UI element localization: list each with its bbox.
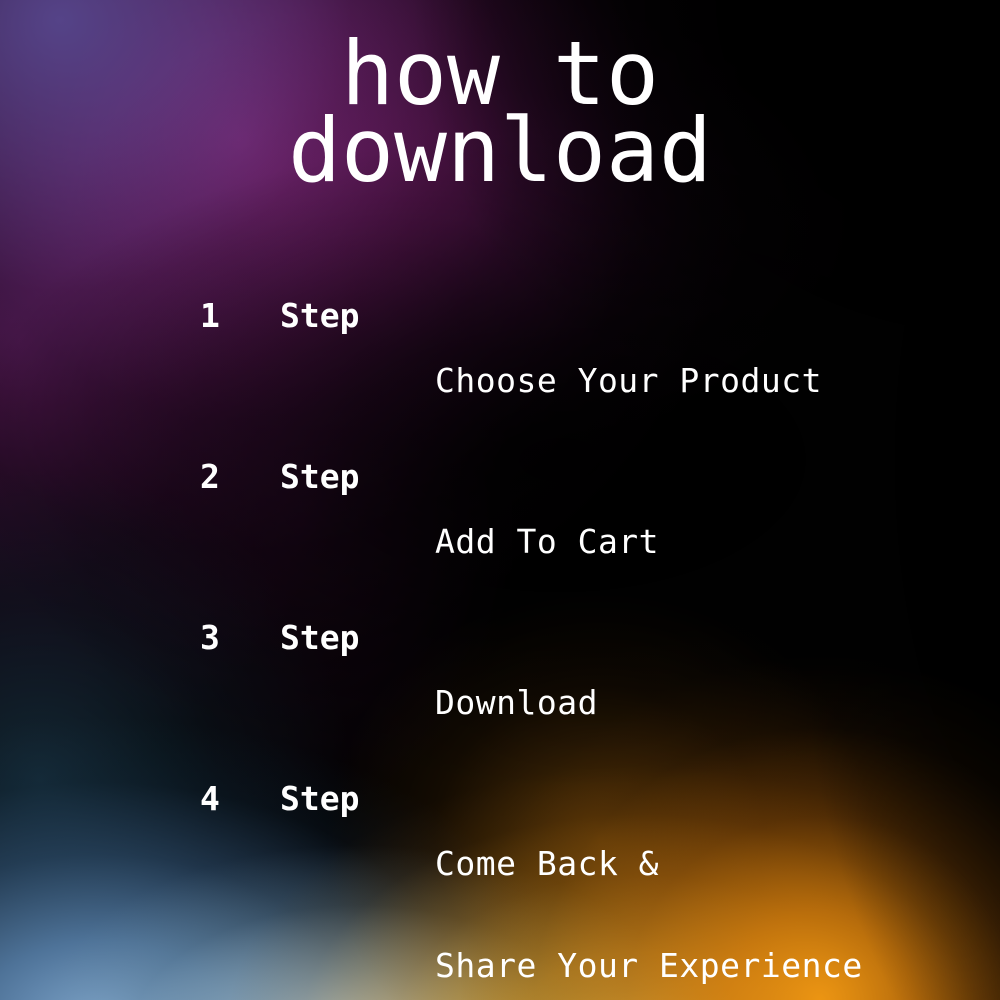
page-title: how to download [0,34,1000,192]
step-item-4-label: Step [280,779,435,819]
step-item-1-content: 1 Step Choose Your Product [200,296,822,466]
step-item-2-content: 2 Step Add To Cart [200,457,679,627]
step-item-2-number: 2 [200,457,280,497]
step-item-1: 1 Step Choose Your Product [0,296,1000,457]
step-item-3-label: Step [280,618,435,658]
step-item-4-description-line-2: Share Your Experience [435,949,863,983]
step-item-3-description: Download [435,618,679,788]
poster-canvas: how to download 1 Step Choose Your Produ… [0,0,1000,1000]
step-item-4-number: 4 [200,779,280,819]
step-item-3-description-line-1: Download [435,686,679,720]
step-item-4: 4 Step Come Back & Share Your Experience [0,779,1000,940]
step-item-2-description: Add To Cart [435,457,679,627]
step-item-2-description-line-1: Add To Cart [435,525,679,559]
poster-content: how to download 1 Step Choose Your Produ… [0,0,1000,1000]
page-title-line-2: download [0,111,1000,192]
step-item-4-description: Come Back & Share Your Experience [435,779,863,1000]
steps-list: 1 Step Choose Your Product 2 Step Add To… [0,296,1000,940]
step-item-1-description: Choose Your Product [435,296,822,466]
step-item-4-content: 4 Step Come Back & Share Your Experience [200,779,863,1000]
step-item-3: 3 Step Download [0,618,1000,779]
step-item-2-label: Step [280,457,435,497]
step-item-1-label: Step [280,296,435,336]
step-item-1-description-line-1: Choose Your Product [435,364,822,398]
step-item-2: 2 Step Add To Cart [0,457,1000,618]
step-item-1-number: 1 [200,296,280,336]
step-item-3-number: 3 [200,618,280,658]
step-item-3-content: 3 Step Download [200,618,679,788]
step-item-4-description-line-1: Come Back & [435,847,863,881]
